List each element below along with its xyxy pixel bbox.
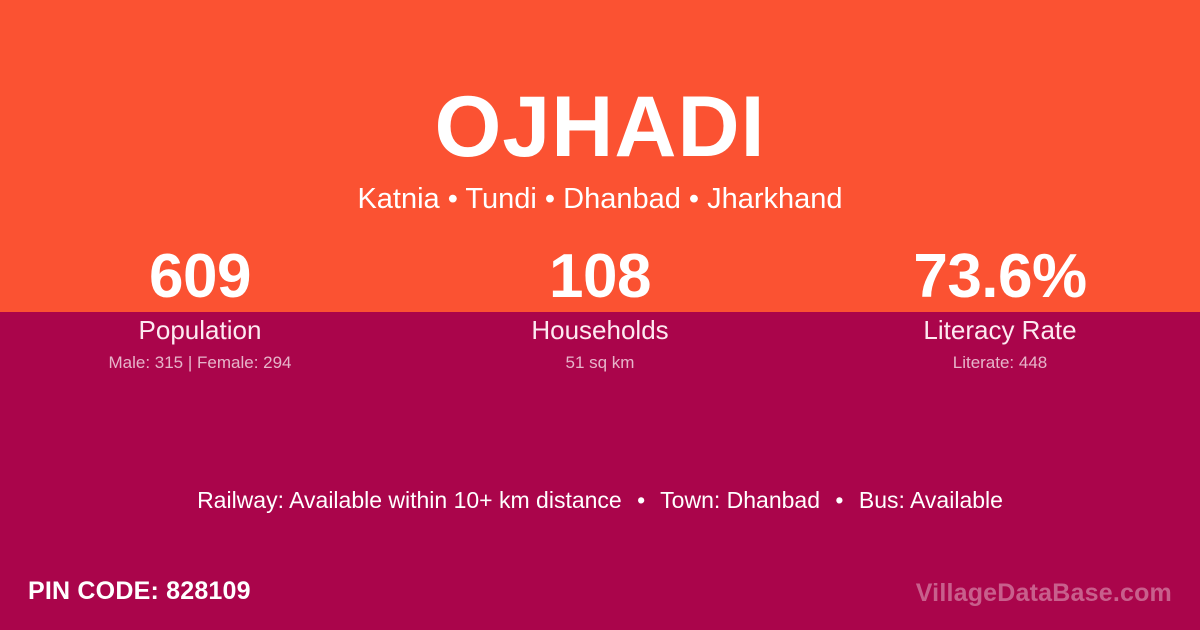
breadcrumb: Katnia • Tundi • Dhanbad • Jharkhand	[0, 182, 1200, 217]
stat-households-value: 108	[400, 243, 800, 311]
stat-literacy-sub: Literate: 448	[800, 352, 1200, 374]
facilities-line: Railway: Available within 10+ km distanc…	[0, 486, 1200, 514]
card-footer: PIN CODE: 828109 VillageDataBase.com	[0, 575, 1200, 615]
stat-literacy-value: 73.6%	[800, 243, 1200, 311]
site-brand: VillageDataBase.com	[916, 577, 1172, 609]
facility-railway: Railway: Available within 10+ km distanc…	[197, 487, 622, 513]
village-info-card: OJHADI Katnia • Tundi • Dhanbad • Jharkh…	[0, 0, 1200, 630]
facility-bus: Bus: Available	[859, 487, 1003, 513]
stat-literacy: 73.6% Literacy Rate Literate: 448	[800, 243, 1200, 374]
stat-households-sub: 51 sq km	[400, 352, 800, 374]
page-title: OJHADI	[0, 84, 1200, 170]
facility-separator-icon: •	[628, 486, 654, 514]
stat-population: 609 Population Male: 315 | Female: 294	[0, 243, 400, 374]
stats-row: 609 Population Male: 315 | Female: 294 1…	[0, 243, 1200, 374]
stat-literacy-label: Literacy Rate	[800, 314, 1200, 346]
stat-population-sub: Male: 315 | Female: 294	[0, 352, 400, 374]
stat-households: 108 Households 51 sq km	[400, 243, 800, 374]
stat-population-label: Population	[0, 314, 400, 346]
facility-separator-icon: •	[826, 486, 852, 514]
stat-population-value: 609	[0, 243, 400, 311]
pin-code-label: PIN CODE: 828109	[28, 575, 251, 607]
stat-households-label: Households	[400, 314, 800, 346]
facility-town: Town: Dhanbad	[660, 487, 820, 513]
